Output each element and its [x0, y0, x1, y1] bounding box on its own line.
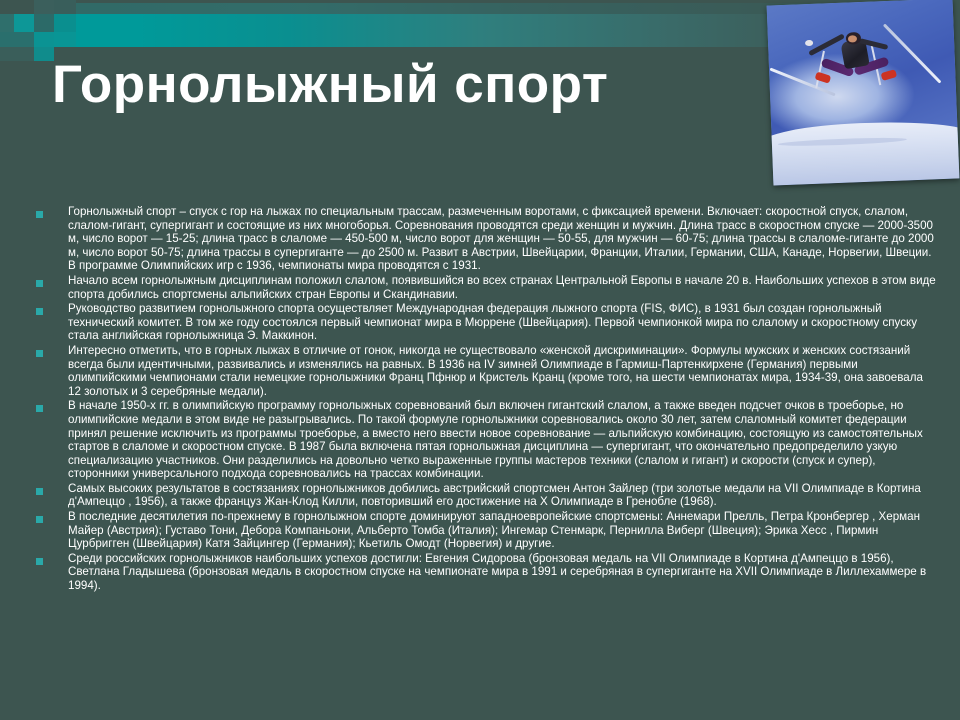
- list-item-text: В начале 1950-х гг. в олимпийскую програ…: [68, 399, 936, 481]
- mosaic-square: [34, 14, 54, 32]
- mosaic-square: [14, 14, 34, 32]
- list-item-text: Руководство развитием горнолыжного спорт…: [68, 302, 936, 343]
- list-item: Горнолыжный спорт – спуск с гор на лыжах…: [36, 205, 936, 273]
- list-item-text: В последние десятилетия по-прежнему в го…: [68, 510, 936, 551]
- mosaic-square: [54, 14, 76, 32]
- bullet-marker-icon: [36, 558, 43, 565]
- bullet-marker-icon: [36, 405, 43, 412]
- page-title: Горнолыжный спорт: [52, 56, 752, 113]
- mosaic-square: [54, 0, 76, 14]
- mosaic-square: [54, 32, 76, 47]
- list-item: Среди российских горнолыжников наибольши…: [36, 552, 936, 593]
- bullet-marker-icon: [36, 280, 43, 287]
- list-item-text: Горнолыжный спорт – спуск с гор на лыжах…: [68, 205, 936, 273]
- list-item: В начале 1950-х гг. в олимпийскую програ…: [36, 399, 936, 481]
- bullet-marker-icon: [36, 211, 43, 218]
- bullet-marker-icon: [36, 516, 43, 523]
- skier-photo: [767, 0, 960, 186]
- list-item-text: Интересно отметить, что в горных лыжах в…: [68, 344, 936, 398]
- mosaic-square: [0, 32, 34, 47]
- mosaic-square: [34, 47, 54, 61]
- boot-right: [881, 69, 898, 81]
- bullet-marker-icon: [36, 350, 43, 357]
- bullet-marker-icon: [36, 488, 43, 495]
- bullet-marker-icon: [36, 308, 43, 315]
- photo-snow: [767, 119, 960, 186]
- mosaic-square: [0, 0, 34, 14]
- presentation-slide: Горнолыжный спорт Горнолыжный спорт – сп…: [0, 0, 960, 720]
- mosaic-square: [0, 47, 34, 61]
- list-item: Руководство развитием горнолыжного спорт…: [36, 302, 936, 343]
- list-item-text: Начало всем горнолыжным дисциплинам поло…: [68, 274, 936, 301]
- list-item-text: Самых высоких результатов в состязаниях …: [68, 482, 936, 509]
- list-item: В последние десятилетия по-прежнему в го…: [36, 510, 936, 551]
- list-item-text: Среди российских горнолыжников наибольши…: [68, 552, 936, 593]
- list-item: Начало всем горнолыжным дисциплинам поло…: [36, 274, 936, 301]
- list-item: Интересно отметить, что в горных лыжах в…: [36, 344, 936, 398]
- bullet-list: Горнолыжный спорт – спуск с гор на лыжах…: [36, 205, 936, 594]
- list-item: Самых высоких результатов в состязаниях …: [36, 482, 936, 509]
- mosaic-square: [0, 14, 14, 32]
- mosaic-square: [34, 32, 54, 47]
- mosaic-square: [34, 0, 54, 14]
- photo-skier-figure: [816, 31, 916, 125]
